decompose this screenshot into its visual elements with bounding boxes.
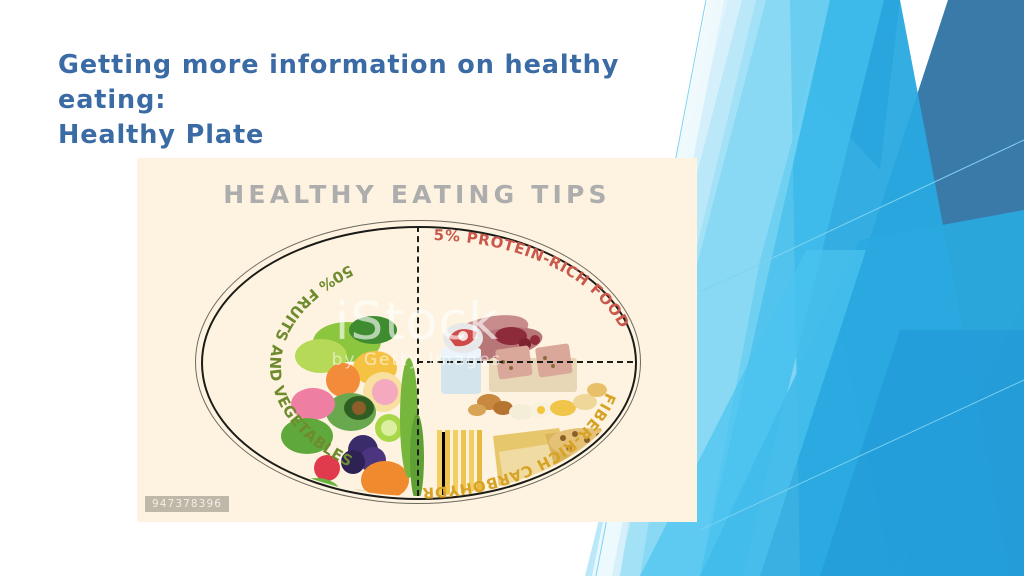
decor-hairline-3 (700, 380, 1024, 530)
decor-shape-navy-notch (812, 0, 900, 170)
decor-shape-blue-2 (700, 0, 884, 576)
decor-shape-steel (840, 0, 1024, 576)
decor-shape-bright-lower (700, 210, 1024, 576)
presentation-slide: Getting more information on healthy eati… (0, 0, 1024, 576)
plate-segment-labels: 50% FRUITS AND VEGETABLES 25% PROTEIN-RI… (137, 158, 697, 522)
decor-shape-blue-1 (790, 0, 1010, 576)
title-block: Getting more information on healthy eati… (58, 48, 718, 154)
label-carbohydrates: 25% FIBER-RICH CARBOHYDRATES (137, 158, 619, 502)
decor-shape-dark-right (905, 0, 1024, 576)
decor-hairline-2 (700, 140, 1024, 292)
label-protein-foods: 25% PROTEIN-RICH FOODS (137, 158, 633, 331)
label-fruits-vegetables: 50% FRUITS AND VEGETABLES (266, 261, 356, 470)
healthy-plate-image[interactable]: HEALTHY EATING TIPS (137, 158, 697, 522)
page-title: Getting more information on healthy eati… (58, 48, 718, 154)
asset-id-badge: 947378396 (145, 496, 229, 512)
decor-shape-bright-lower-2 (820, 330, 1024, 576)
